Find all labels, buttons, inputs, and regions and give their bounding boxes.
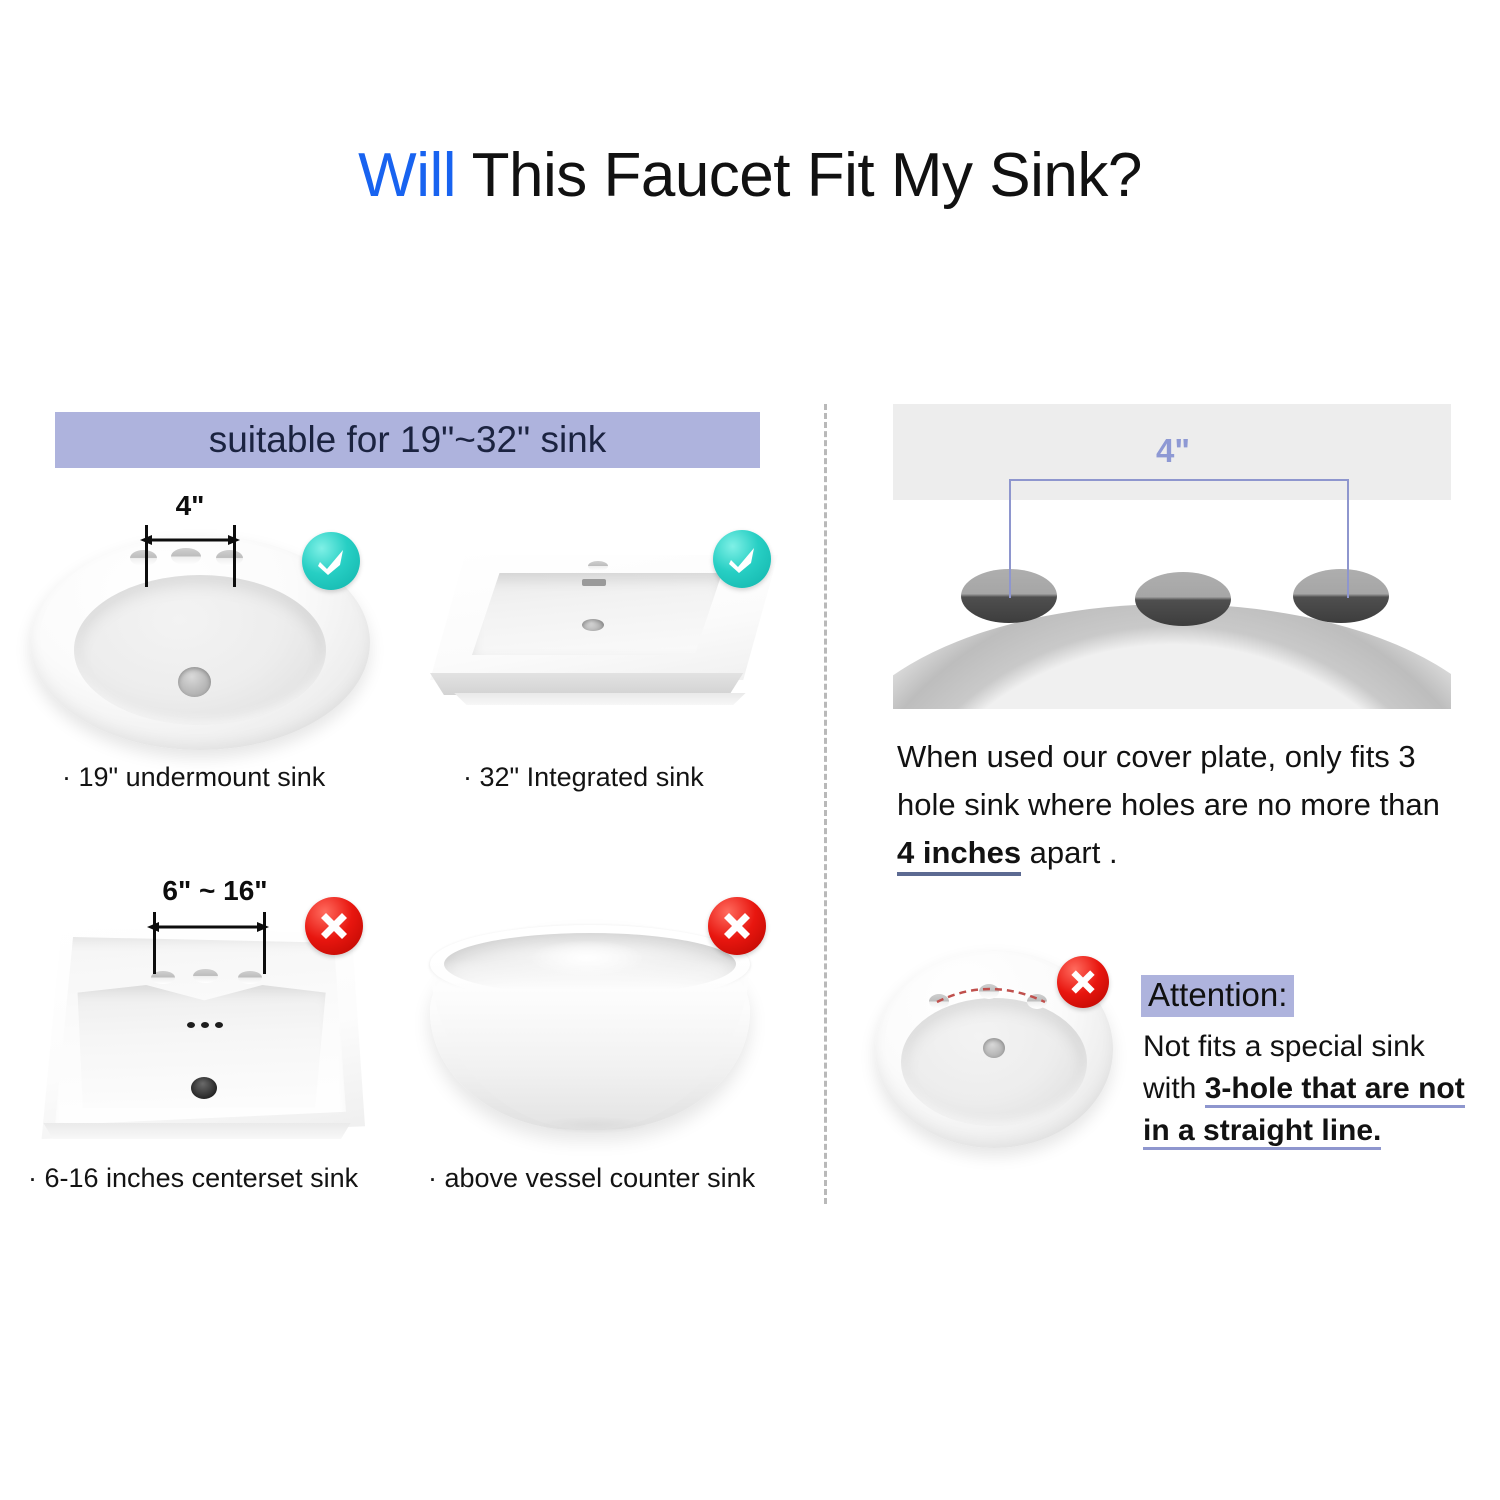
page-title: Will This Faucet Fit My Sink? xyxy=(0,140,1500,211)
verdict-badge-ok-undermount xyxy=(302,532,360,590)
attention-line-2: with 3-hole that are not xyxy=(1143,1068,1488,1110)
cover-plate-note: When used our cover plate, only fits 3 h… xyxy=(897,733,1469,877)
non-linear-hole-arc xyxy=(925,974,1065,1014)
overflow-slot xyxy=(582,579,606,586)
caption-vessel: · above vessel counter sink xyxy=(428,1163,755,1194)
faucet-hole-single xyxy=(588,561,608,571)
hole-spacing-photo: 4" xyxy=(893,404,1451,709)
faucet-hole-right xyxy=(238,971,262,984)
attention-body: Not fits a special sink with 3-hole that… xyxy=(1143,1026,1488,1152)
caption-integrated: · 32" Integrated sink xyxy=(463,762,704,793)
dimension-arrow xyxy=(147,919,269,935)
hole-spacing-label: 4" xyxy=(1156,432,1190,470)
title-accent-word: Will xyxy=(358,141,456,210)
sink-front-shadow xyxy=(448,693,758,705)
centerset-sink-illustration xyxy=(35,927,375,1157)
attention-line-2-prefix: with xyxy=(1143,1072,1205,1105)
faucet-hole-center xyxy=(193,969,218,983)
sink-drain xyxy=(191,1077,217,1099)
attention-heading: Attention: xyxy=(1141,975,1294,1017)
hole-spacing-bracket xyxy=(1009,479,1349,598)
verdict-badge-no-centerset xyxy=(305,897,363,955)
sink-drain xyxy=(582,619,604,631)
overflow-dots xyxy=(187,1022,227,1030)
note-emphasis: 4 inches xyxy=(897,835,1021,876)
dimension-4in: 4" xyxy=(125,490,265,560)
dimension-6-16in-label: 6" ~ 16" xyxy=(140,875,290,907)
cross-icon xyxy=(718,907,756,945)
attention-line-1: Not fits a special sink xyxy=(1143,1026,1488,1068)
title-rest: This Faucet Fit My Sink? xyxy=(456,141,1142,210)
sink-card-centerset: 6" ~ 16" · 6-16 inches centerset sink xyxy=(20,875,400,1205)
sink-bowl xyxy=(74,575,326,725)
sink-front-lip xyxy=(37,1123,357,1139)
sink-card-undermount: 4" · 19" undermount sink xyxy=(30,490,400,810)
suitable-banner: suitable for 19"~32" sink xyxy=(55,412,760,468)
cross-icon xyxy=(315,907,353,945)
dimension-4in-label: 4" xyxy=(145,490,235,522)
note-line-3: 4 inches apart . xyxy=(897,829,1469,877)
suitable-banner-label: suitable for 19"~32" sink xyxy=(209,419,607,461)
verdict-badge-no-vessel xyxy=(708,897,766,955)
attention-line-3: in a straight line. xyxy=(1143,1110,1488,1152)
sink-drain xyxy=(178,667,211,697)
dimension-arrow xyxy=(140,532,240,548)
attention-line-3-emphasis: in a straight line. xyxy=(1143,1114,1381,1150)
vessel-sink-illustration xyxy=(422,915,762,1145)
verdict-badge-ok-integrated xyxy=(713,530,771,588)
caption-centerset: · 6-16 inches centerset sink xyxy=(28,1163,358,1194)
note-line-3-tail: apart . xyxy=(1021,835,1118,870)
dimension-6-16in: 6" ~ 16" xyxy=(130,875,330,955)
verdict-badge-no-attention xyxy=(1057,956,1109,1008)
section-divider xyxy=(824,404,827,1204)
sink-bowl xyxy=(901,998,1087,1126)
note-line-2: hole sink where holes are no more than xyxy=(897,781,1469,829)
vessel-bowl-shade xyxy=(430,959,750,1130)
vessel-bowl-base-shadow xyxy=(542,1117,646,1133)
cross-icon xyxy=(1066,965,1100,999)
sink-card-integrated: · 32" Integrated sink xyxy=(425,490,795,810)
sink-front-edge xyxy=(430,673,778,695)
caption-undermount: · 19" undermount sink xyxy=(62,762,325,793)
note-line-1: When used our cover plate, only fits 3 xyxy=(897,733,1469,781)
check-icon xyxy=(313,543,349,579)
check-icon xyxy=(724,541,760,577)
attention-sink-card xyxy=(875,950,1125,1165)
vessel-bowl-highlight xyxy=(532,941,642,975)
attention-line-2-emphasis: 3-hole that are not xyxy=(1205,1072,1465,1108)
sink-card-vessel: · above vessel counter sink xyxy=(412,875,792,1205)
sink-drain xyxy=(983,1038,1005,1058)
